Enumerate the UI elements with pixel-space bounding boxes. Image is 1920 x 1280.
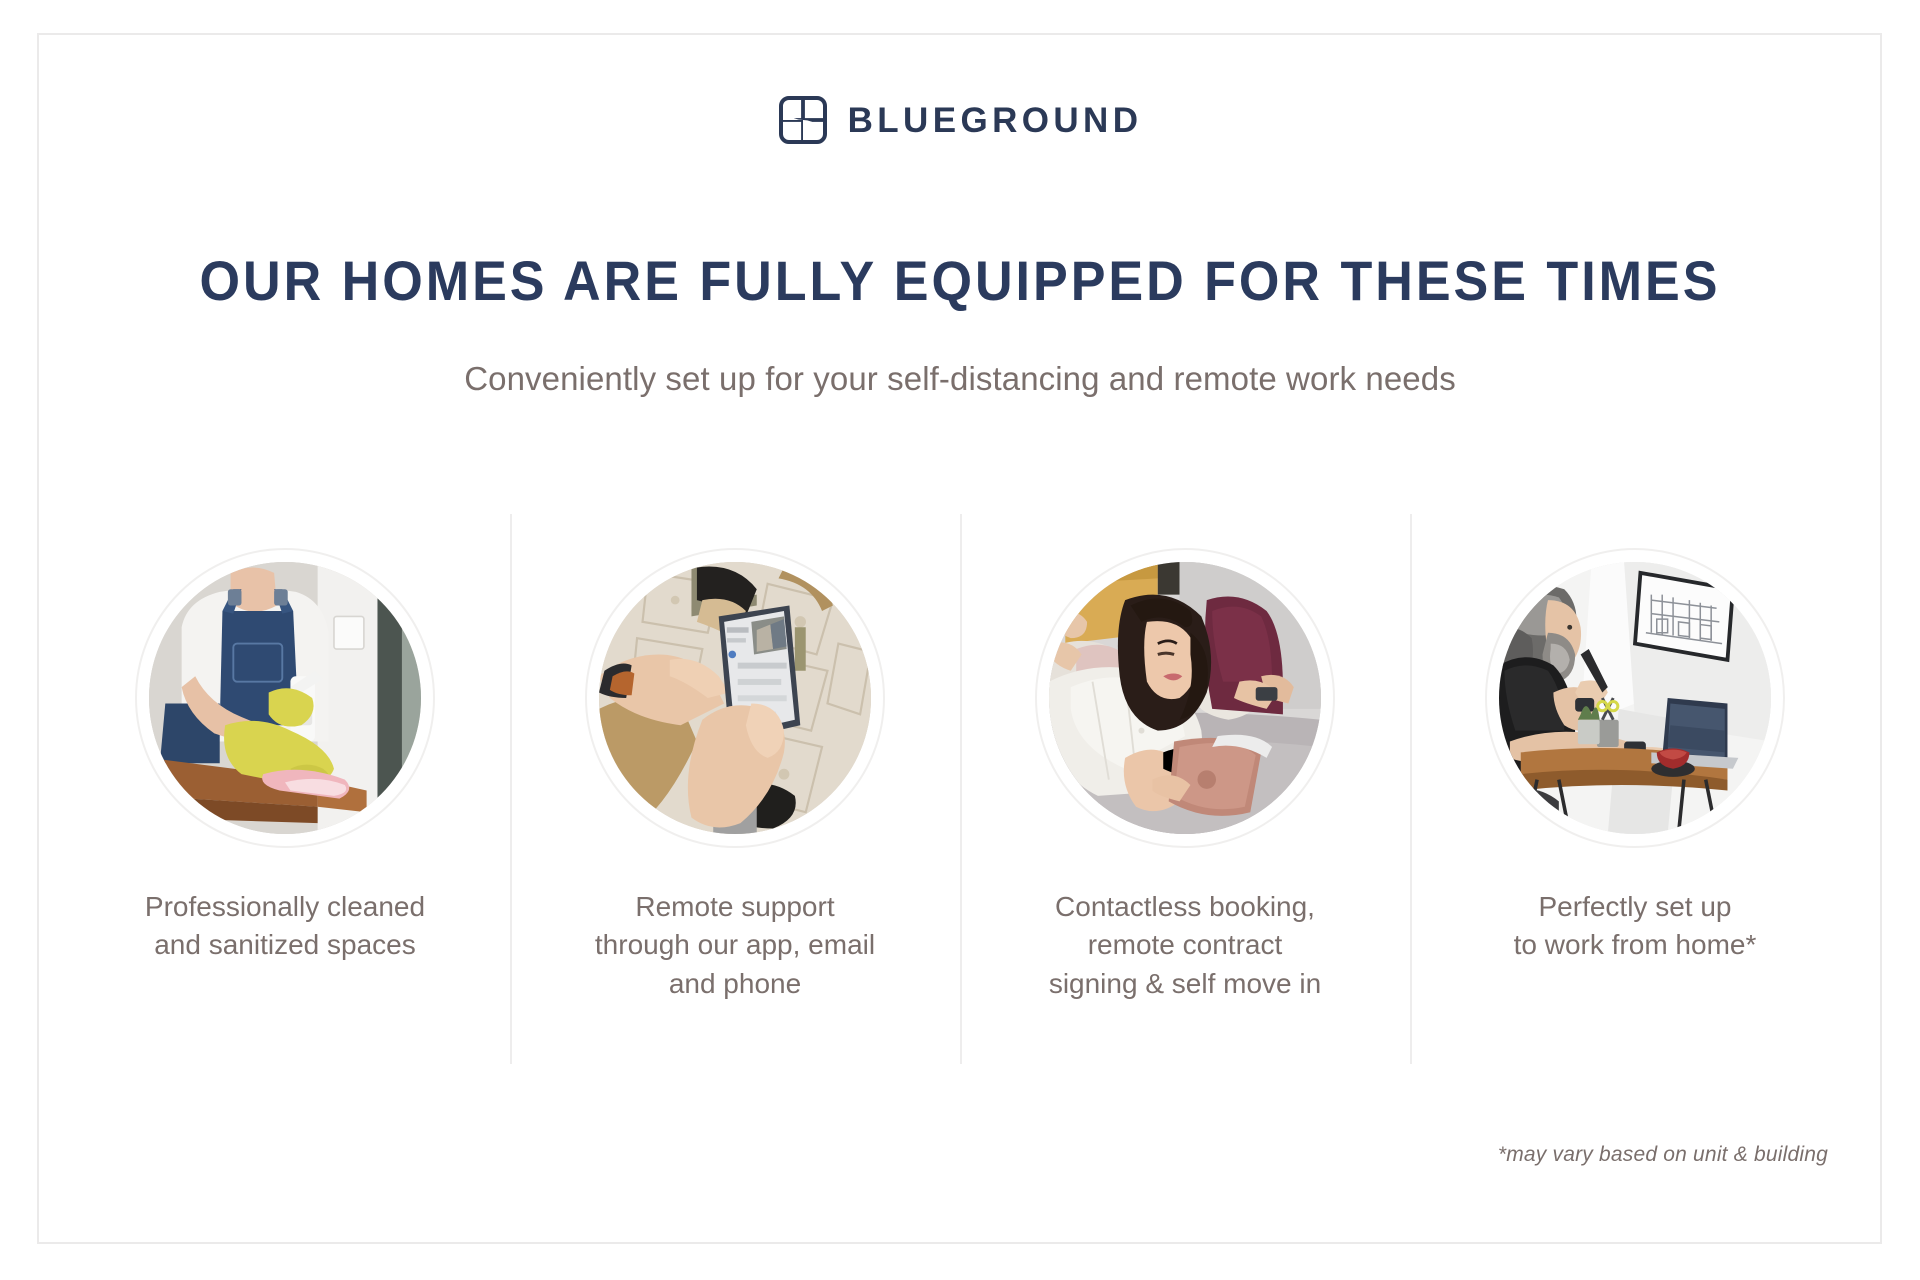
caption-line: Professionally cleaned (145, 891, 425, 922)
brand-wordmark: BLUEGROUND (848, 103, 1143, 138)
cleaning-photo-ring (135, 548, 435, 848)
feature-item-remote-support: Remote support through our app, email an… (510, 510, 960, 1070)
feature-list: Professionally cleaned and sanitized spa… (60, 510, 1860, 1070)
page-subtitle: Conveniently set up for your self-distan… (0, 360, 1920, 398)
contactless-booking-photo (1049, 562, 1321, 834)
caption-line: to work from home* (1514, 929, 1757, 960)
blueground-square-icon (778, 95, 828, 145)
caption-line: signing & self move in (1049, 968, 1321, 999)
brand-logo: BLUEGROUND (0, 95, 1920, 145)
feature-caption: Professionally cleaned and sanitized spa… (120, 888, 450, 965)
caption-line: remote contract (1088, 929, 1283, 960)
feature-caption: Contactless booking, remote contract sig… (1020, 888, 1350, 1003)
page-title: OUR HOMES ARE FULLY EQUIPPED FOR THESE T… (67, 252, 1853, 311)
cleaning-photo (149, 562, 421, 834)
caption-line: and sanitized spaces (154, 929, 416, 960)
contactless-booking-photo-ring (1035, 548, 1335, 848)
feature-caption: Remote support through our app, email an… (570, 888, 900, 1003)
caption-line: and phone (669, 968, 801, 999)
caption-line: through our app, email (595, 929, 875, 960)
feature-item-cleaning: Professionally cleaned and sanitized spa… (60, 510, 510, 1070)
caption-line: Remote support (635, 891, 834, 922)
work-from-home-photo (1499, 562, 1771, 834)
work-from-home-photo-ring (1485, 548, 1785, 848)
caption-line: Contactless booking, (1055, 891, 1315, 922)
feature-caption: Perfectly set up to work from home* (1470, 888, 1800, 965)
phone-support-photo (599, 562, 871, 834)
phone-support-photo-ring (585, 548, 885, 848)
feature-item-contactless-booking: Contactless booking, remote contract sig… (960, 510, 1410, 1070)
footnote-disclaimer: *may vary based on unit & building (1498, 1143, 1828, 1167)
infographic-page: BLUEGROUND OUR HOMES ARE FULLY EQUIPPED … (0, 0, 1920, 1280)
feature-item-work-from-home: Perfectly set up to work from home* (1410, 510, 1860, 1070)
caption-line: Perfectly set up (1539, 891, 1732, 922)
